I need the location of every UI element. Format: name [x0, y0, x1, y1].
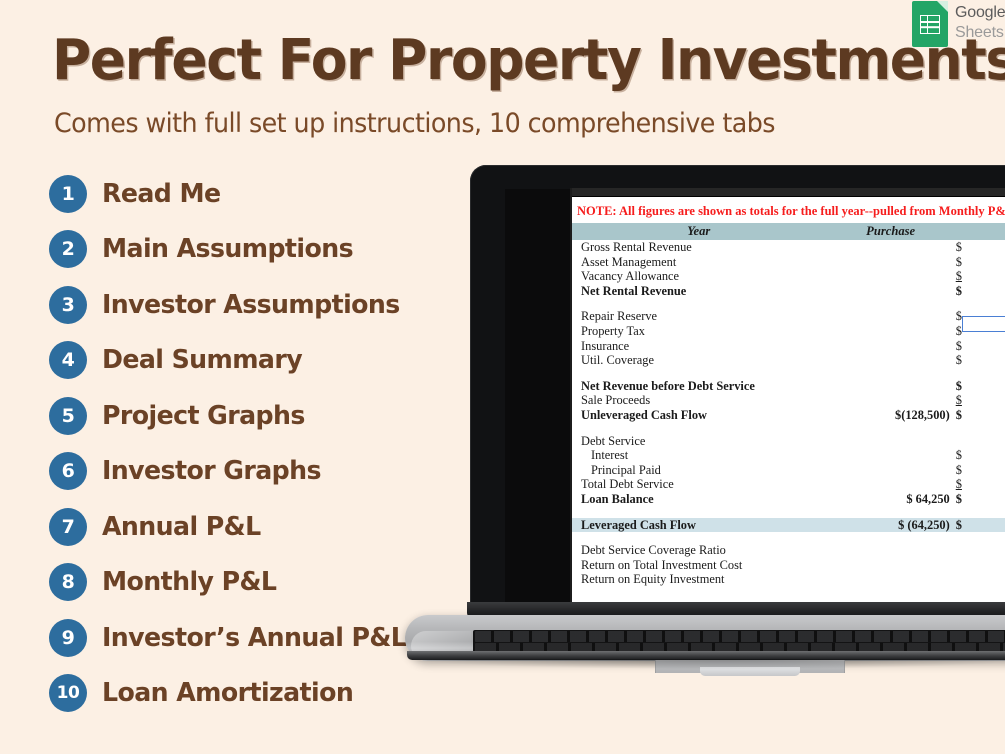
table-row[interactable]: Leveraged Cash Flow$ (64,250)$3,571$8,98…	[572, 518, 1005, 533]
laptop-base	[405, 602, 1005, 674]
tab-number-badge: 10	[49, 674, 87, 712]
tab-number-badge: 3	[49, 286, 87, 324]
cell-label: Year	[572, 223, 826, 240]
cell-year1: (1,500)	[973, 324, 1005, 339]
cell-purchase	[826, 240, 956, 255]
cell-label: Insurance	[572, 339, 826, 354]
table-row[interactable]: Loan Balance$ 64,250$63,384$62,470$61,5	[572, 492, 1005, 507]
cell-currency-symbol: $	[956, 284, 974, 299]
laptop-lid: NOTE: All figures are shown as totals fo…	[470, 165, 1005, 605]
page-fold	[937, 1, 948, 12]
table-row[interactable]: Property Tax$(1,500)$(1,500)$(1,	[572, 324, 1005, 339]
cell-currency-symbol	[956, 558, 974, 573]
laptop-drop-shadow	[415, 659, 1005, 669]
tab-label: Investor’s Annual P&L	[102, 623, 406, 653]
laptop-screen: NOTE: All figures are shown as totals fo…	[570, 188, 1005, 608]
cell-purchase	[826, 393, 956, 408]
table-spacer-row	[572, 423, 1005, 434]
cell-currency-symbol: $	[956, 393, 974, 408]
cell-currency-symbol: $	[956, 492, 974, 507]
table-row[interactable]: Insurance$(500)$(500)$(	[572, 339, 1005, 354]
laptop-mockup: NOTE: All figures are shown as totals fo…	[405, 165, 1005, 695]
cell-currency-symbol: $	[956, 324, 974, 339]
cell-year1: (933)	[973, 269, 1005, 284]
cell-year1: 11,112	[973, 284, 1005, 299]
cell-currency-symbol: $	[956, 353, 974, 368]
cell-label: Debt Service	[572, 434, 826, 449]
cell-label: Total Debt Service	[572, 477, 826, 492]
cell-year1: 4,378	[973, 477, 1005, 492]
table-row[interactable]: Total Debt Service$4,378$4,378$4,	[572, 477, 1005, 492]
cell-label: Return on Equity Investment	[572, 572, 826, 587]
table-row[interactable]: Debt Service Coverage Ratio1.823.053	[572, 543, 1005, 558]
cell-currency-symbol: $	[956, 463, 974, 478]
cell-year1: -	[973, 393, 1005, 408]
cell-label: Net Rental Revenue	[572, 284, 826, 299]
tab-number-badge: 9	[49, 619, 87, 657]
cell-currency-symbol: $	[956, 339, 974, 354]
tab-label: Annual P&L	[102, 512, 261, 542]
table-spacer-row	[572, 532, 1005, 543]
cell-year1: 12,045	[973, 240, 1005, 255]
cell-currency-symbol: $	[956, 477, 974, 492]
spreadsheet-canvas[interactable]: NOTE: All figures are shown as totals fo…	[572, 197, 1005, 608]
cell-label: Property Tax	[572, 324, 826, 339]
cell-purchase	[826, 284, 956, 299]
tab-number-badge: 6	[49, 452, 87, 490]
tab-number-badge: 1	[49, 175, 87, 213]
cell-purchase: $(128,500)	[826, 408, 956, 423]
tab-label: Investor Assumptions	[102, 290, 400, 320]
cell-label: Return on Total Investment Cost	[572, 558, 826, 573]
table-row[interactable]: Repair Reserve$(843)$(1,301)$(1,	[572, 309, 1005, 324]
cell-label: Principal Paid	[572, 463, 826, 478]
table-row[interactable]: Sale Proceeds$-$-$-	[572, 393, 1005, 408]
tab-label: Investor Graphs	[102, 456, 321, 486]
cell-year1: 7,948	[973, 408, 1005, 423]
tab-label: Project Graphs	[102, 401, 305, 431]
table-spacer-row	[572, 507, 1005, 518]
table-row[interactable]: Vacancy Allowance$(933)$(1,440)$(1,	[572, 269, 1005, 284]
cell-year1: 63,384	[973, 492, 1005, 507]
brand-line-google: Google	[955, 3, 1005, 23]
cell-year1	[973, 434, 1005, 449]
cell-purchase	[826, 558, 956, 573]
table-row[interactable]: Principal Paid$866$914$	[572, 463, 1005, 478]
cell-year1: 866	[973, 463, 1005, 478]
cell-currency-symbol: $	[956, 255, 974, 270]
sheet-note: NOTE: All figures are shown as totals fo…	[572, 197, 1005, 223]
cell-currency-symbol: $	[956, 309, 974, 324]
financial-table[interactable]: YearPurchase123Gross Rental Revenue$12,0…	[572, 223, 1005, 587]
cell-currency-symbol: $	[956, 448, 974, 463]
cell-year1: (500)	[973, 339, 1005, 354]
cell-year1: 1	[973, 223, 1005, 240]
cell-currency-symbol	[956, 223, 974, 240]
cell-purchase	[826, 353, 956, 368]
table-row[interactable]: Return on Total Investment Cost2.78%6.99…	[572, 558, 1005, 573]
cell-purchase	[826, 269, 956, 284]
table-row[interactable]: Return on Equity Investment5.56%13.99%14…	[572, 572, 1005, 587]
app-toolbar-strip	[572, 188, 1005, 197]
cell-purchase	[826, 543, 956, 558]
tab-number-badge: 8	[49, 563, 87, 601]
cell-currency-symbol: $	[956, 408, 974, 423]
tab-label: Read Me	[102, 179, 221, 209]
cell-year1: 1.82	[973, 543, 1005, 558]
cell-purchase	[826, 324, 956, 339]
cell-purchase: $ (64,250)	[826, 518, 956, 533]
cell-year1: 3,512	[973, 448, 1005, 463]
cell-label: Leveraged Cash Flow	[572, 518, 826, 533]
promo-slide: Google Sheets Perfect For Property Inves…	[0, 0, 1005, 754]
cell-purchase	[826, 339, 956, 354]
cell-purchase	[826, 309, 956, 324]
table-row[interactable]: Asset Management$-$-$-	[572, 255, 1005, 270]
cell-label: Vacancy Allowance	[572, 269, 826, 284]
cell-label: Net Revenue before Debt Service	[572, 379, 826, 394]
cell-year1: 7,948	[973, 379, 1005, 394]
cell-label: Repair Reserve	[572, 309, 826, 324]
cell-label: Interest	[572, 448, 826, 463]
cell-year1: (320)	[973, 353, 1005, 368]
cell-purchase	[826, 477, 956, 492]
tab-label: Loan Amortization	[102, 678, 353, 708]
tab-label: Monthly P&L	[102, 567, 276, 597]
cell-currency-symbol	[956, 543, 974, 558]
table-row[interactable]: Interest$3,512$3,463$3,	[572, 448, 1005, 463]
cell-currency-symbol: $	[956, 379, 974, 394]
table-row[interactable]: Debt Service	[572, 434, 1005, 449]
tab-number-badge: 7	[49, 508, 87, 546]
cell-label: Debt Service Coverage Ratio	[572, 543, 826, 558]
cell-purchase	[826, 448, 956, 463]
page-subtitle: Comes with full set up instructions, 10 …	[54, 108, 775, 139]
cell-label: Gross Rental Revenue	[572, 240, 826, 255]
cell-label: Sale Proceeds	[572, 393, 826, 408]
cell-purchase: Purchase	[826, 223, 956, 240]
cell-currency-symbol: $	[956, 518, 974, 533]
table-row[interactable]: Gross Rental Revenue$12,045$18,586$19,	[572, 240, 1005, 255]
cell-purchase: $ 64,250	[826, 492, 956, 507]
tab-number-badge: 5	[49, 397, 87, 435]
cell-purchase	[826, 255, 956, 270]
cell-year1: 3,571	[973, 518, 1005, 533]
table-header-row[interactable]: YearPurchase123	[572, 223, 1005, 240]
cell-currency-symbol: $	[956, 269, 974, 284]
cell-currency-symbol: $	[956, 240, 974, 255]
cell-label: Asset Management	[572, 255, 826, 270]
table-spacer-row	[572, 368, 1005, 379]
cell-year1: 2.78%	[973, 558, 1005, 573]
page-title: Perfect For Property Investments	[52, 33, 1005, 89]
table-row[interactable]: Util. Coverage$(320)$(480)$(	[572, 353, 1005, 368]
tab-label: Main Assumptions	[102, 234, 353, 264]
cell-label: Util. Coverage	[572, 353, 826, 368]
cell-purchase	[826, 572, 956, 587]
tab-label: Deal Summary	[102, 345, 302, 375]
cell-year1: 5.56%	[973, 572, 1005, 587]
tab-number-badge: 2	[49, 230, 87, 268]
cell-currency-symbol	[956, 572, 974, 587]
cell-year1: -	[973, 255, 1005, 270]
table-row[interactable]: Net Rental Revenue$11,112$17,146$17,6	[572, 284, 1005, 299]
key-row	[475, 631, 1005, 642]
cell-purchase	[826, 434, 956, 449]
cell-year1: (843)	[973, 309, 1005, 324]
tab-number-badge: 4	[49, 341, 87, 379]
cell-currency-symbol	[956, 434, 974, 449]
cell-label: Unleveraged Cash Flow	[572, 408, 826, 423]
cell-label: Loan Balance	[572, 492, 826, 507]
table-row[interactable]: Net Revenue before Debt Service$7,948$13…	[572, 379, 1005, 394]
cell-purchase	[826, 379, 956, 394]
table-spacer-row	[572, 298, 1005, 309]
cell-purchase	[826, 463, 956, 478]
table-row[interactable]: Unleveraged Cash Flow$(128,500)$7,948$13…	[572, 408, 1005, 423]
